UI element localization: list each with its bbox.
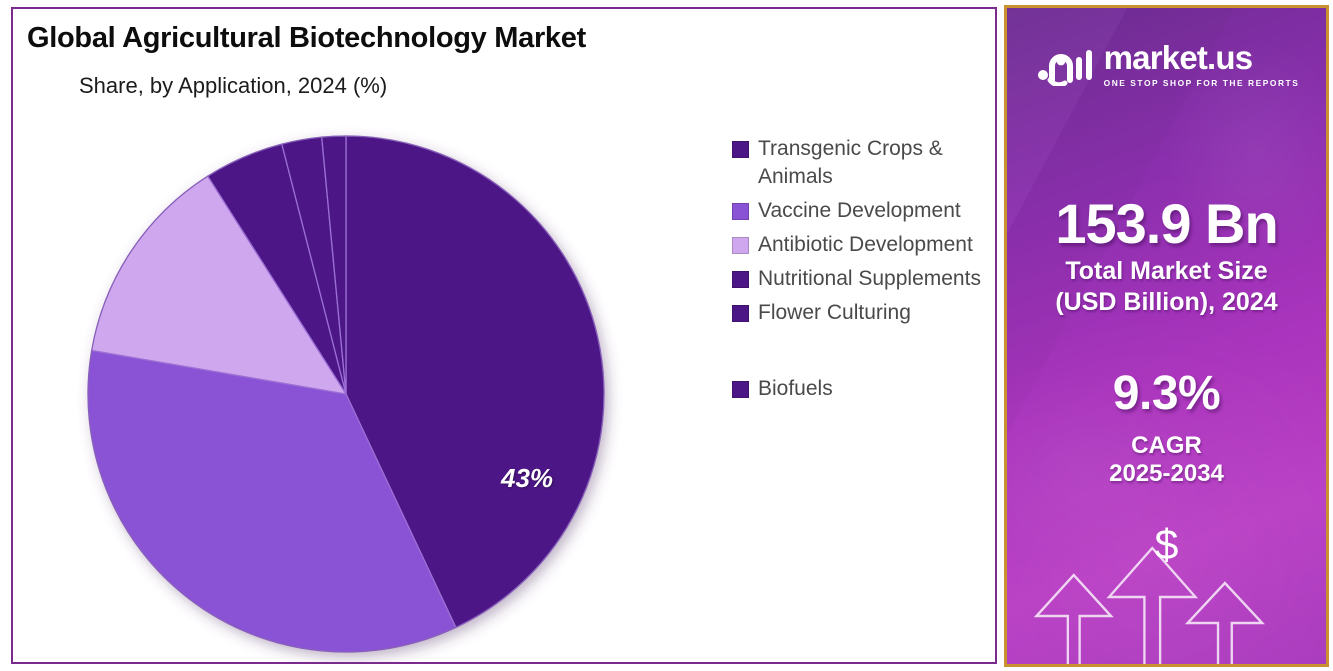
brand-name: market.us [1104, 41, 1253, 74]
market-us-logo-icon [1034, 44, 1094, 86]
legend-item[interactable]: Flower Culturing [732, 299, 994, 327]
legend-item[interactable]: Antibiotic Development [732, 231, 994, 259]
legend-item-label: Nutritional Supplements [758, 265, 981, 293]
chart-subtitle: Share, by Application, 2024 (%) [79, 73, 387, 99]
brand-logo[interactable]: market.us ONE STOP SHOP FOR THE REPORTS [1007, 41, 1326, 88]
legend-item[interactable]: Transgenic Crops & Animals [732, 135, 994, 191]
legend-item-label: Antibiotic Development [758, 231, 973, 259]
chart-panel: Global Agricultural Biotechnology Market… [11, 7, 997, 664]
legend-item-label: Vaccine Development [758, 197, 961, 225]
market-size-label-line2: (USD Billion), 2024 [1007, 288, 1326, 317]
pie-slice-paths [88, 136, 604, 652]
legend-swatch-icon [732, 271, 749, 288]
legend-swatch-icon [732, 203, 749, 220]
pie-data-label: 43% [501, 463, 553, 494]
cagr-value: 9.3% [1007, 366, 1326, 421]
legend-item-label: Transgenic Crops & Animals [758, 135, 994, 191]
legend-item[interactable]: Nutritional Supplements [732, 265, 994, 293]
legend-item-label: Flower Culturing [758, 299, 911, 327]
legend-item-label: Biofuels [758, 375, 833, 403]
legend-swatch-icon [732, 237, 749, 254]
legend-swatch-icon [732, 381, 749, 398]
market-size-value: 153.9 Bn [1007, 191, 1326, 256]
legend-item[interactable]: Biofuels [732, 375, 994, 403]
legend-item[interactable]: Vaccine Development [732, 197, 994, 225]
stats-panel: market.us ONE STOP SHOP FOR THE REPORTS … [1004, 5, 1329, 667]
legend-swatch-icon [732, 141, 749, 158]
chart-legend: Transgenic Crops & AnimalsVaccine Develo… [732, 135, 994, 408]
cagr-label: CAGR [1007, 432, 1326, 460]
page-title: Global Agricultural Biotechnology Market [27, 22, 586, 55]
legend-swatch-icon [732, 305, 749, 322]
infographic-page: Global Agricultural Biotechnology Market… [0, 0, 1333, 671]
pie-chart-svg [65, 119, 645, 664]
market-size-label-line1: Total Market Size [1007, 257, 1326, 286]
cagr-period: 2025-2034 [1007, 460, 1326, 488]
pie-chart: 43% [65, 119, 645, 664]
growth-arrows-icon [1007, 529, 1326, 664]
brand-tagline: ONE STOP SHOP FOR THE REPORTS [1104, 78, 1300, 88]
